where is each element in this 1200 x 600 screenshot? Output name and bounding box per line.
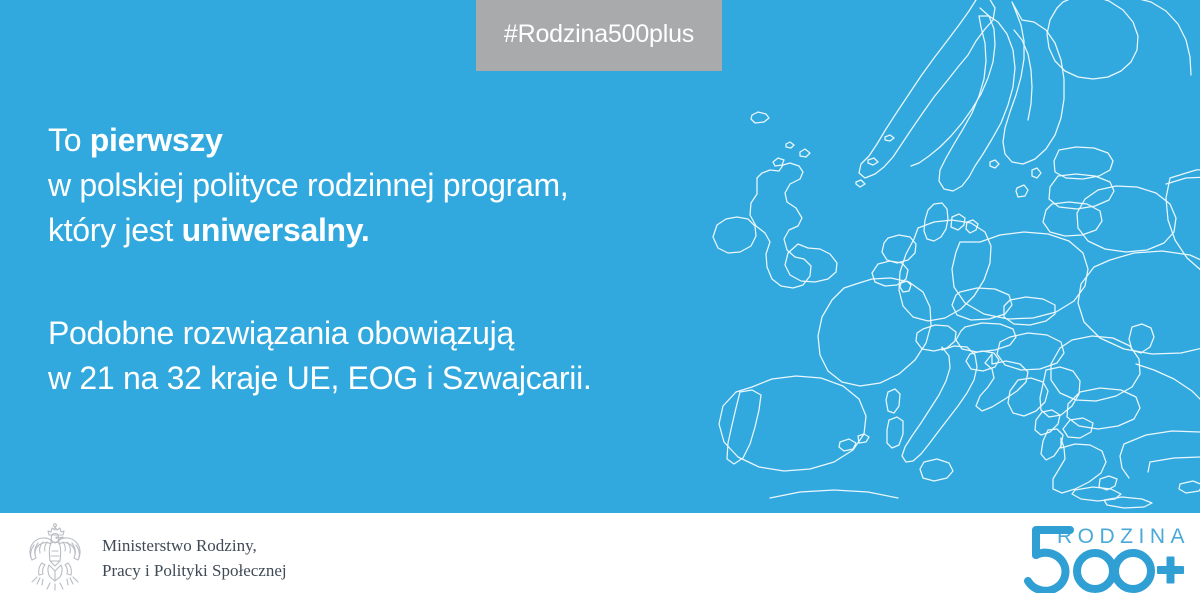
logo-digit-0-first (1077, 553, 1113, 589)
poster-canvas: #Rodzina500plus To pierwszy w polskiej p… (0, 0, 1200, 600)
footer-bar: Ministerstwo Rodziny, Pracy i Polityki S… (0, 513, 1200, 600)
headline-line-1-regular: To (48, 122, 90, 158)
logo-word-rodzina: RODZINA (1057, 525, 1188, 548)
hashtag-badge: #Rodzina500plus (476, 0, 722, 71)
logo-digit-5-bowl (1028, 553, 1065, 591)
hashtag-label: #Rodzina500plus (504, 20, 694, 51)
subheadline-block: Podobne rozwiązania obowiązują w 21 na 3… (48, 311, 688, 401)
headline-line-3-regular: który jest (48, 212, 182, 248)
headline-line-3: który jest uniwersalny. (48, 208, 688, 253)
ministry-name-line-2: Pracy i Polityki Społecznej (102, 558, 287, 583)
headline-line-1-bold: pierwszy (90, 122, 223, 158)
subheadline-line-2: w 21 na 32 kraje UE, EOG i Szwajcarii. (48, 356, 688, 401)
hero-panel: #Rodzina500plus To pierwszy w polskiej p… (0, 0, 1200, 513)
europe-map (680, 0, 1200, 513)
map-country-outlines (713, 0, 1200, 508)
rodzina-500-plus-logo: RODZINA (1008, 521, 1188, 593)
headline-line-1: To pierwszy (48, 118, 688, 163)
logo-plus-sign (1157, 557, 1184, 584)
ministry-branding: Ministerstwo Rodziny, Pracy i Polityki S… (22, 523, 287, 593)
polish-eagle-emblem-icon (22, 523, 88, 593)
headline-line-3-bold: uniwersalny. (182, 212, 370, 248)
ministry-name: Ministerstwo Rodziny, Pracy i Polityki S… (102, 533, 287, 583)
logo-digit-0-second (1115, 553, 1151, 589)
headline-block: To pierwszy w polskiej polityce rodzinne… (48, 118, 688, 401)
headline-line-2: w polskiej polityce rodzinnej program, (48, 163, 688, 208)
subheadline-line-1: Podobne rozwiązania obowiązują (48, 311, 688, 356)
ministry-name-line-1: Ministerstwo Rodziny, (102, 533, 287, 558)
